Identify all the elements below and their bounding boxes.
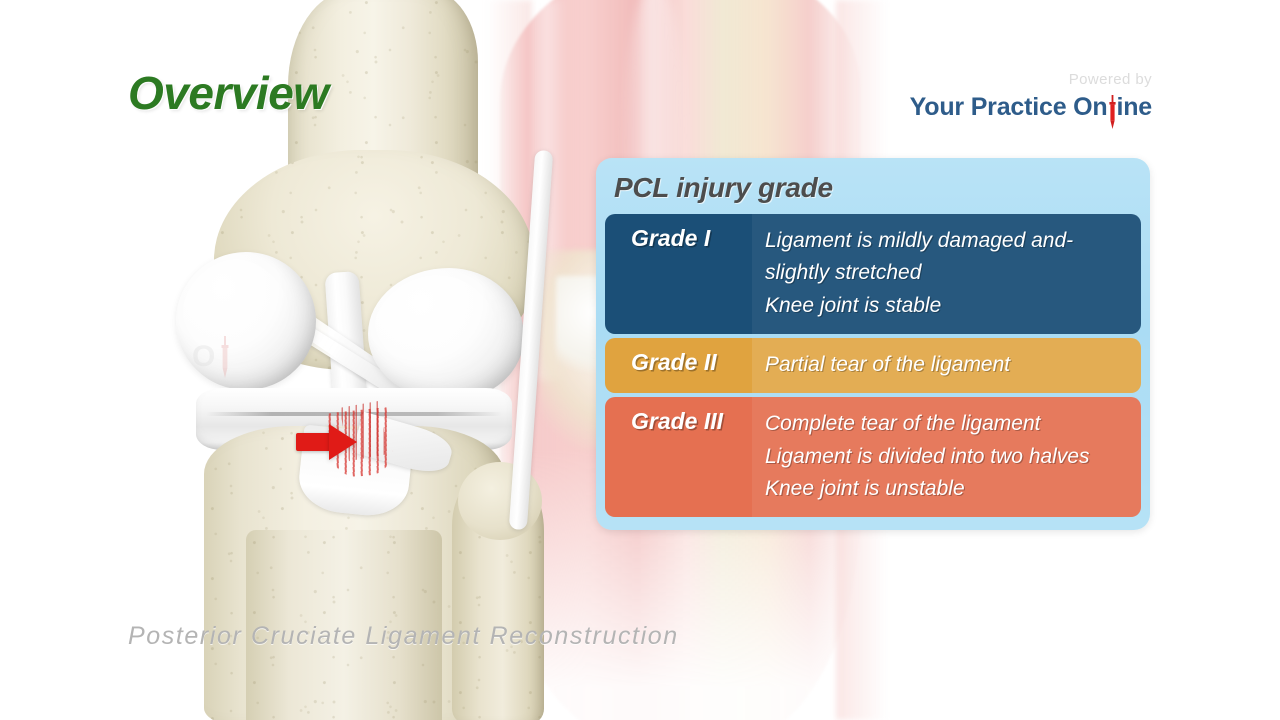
tibia	[204, 426, 504, 720]
grade-description: Ligament is mildly damaged and- slightly…	[752, 214, 1141, 334]
grade-label: Grade II	[605, 338, 752, 387]
card-title: PCL injury grade	[614, 172, 833, 204]
powered-by-label: Powered by	[910, 72, 1152, 87]
grade-description-line: slightly stretched	[765, 257, 1127, 289]
arrow-shaft-icon	[296, 433, 332, 451]
video-caption: Posterior Cruciate Ligament Reconstructi…	[128, 622, 679, 651]
injury-pointer-arrow	[296, 424, 362, 460]
brand-logo[interactable]: Powered by Your Practice Onine	[910, 72, 1152, 120]
muscle-highlight-secondary	[528, 0, 566, 380]
bone-texture	[214, 150, 534, 370]
bone-texture	[452, 470, 544, 720]
torn-ligament-fibers-detail	[340, 401, 389, 461]
cruciate-ligament-band	[288, 317, 422, 409]
medial-femoral-condyle	[176, 252, 316, 390]
muscle-shadow-left	[486, 0, 532, 720]
meniscus-tibial-plateau	[196, 388, 512, 450]
arrow-head-icon	[329, 424, 357, 460]
lateral-ligament	[352, 412, 456, 479]
grade-description: Complete tear of the ligament Ligament i…	[752, 397, 1141, 517]
brand-name-part2: ine	[1116, 93, 1152, 121]
patellar-tendon-band	[509, 150, 553, 530]
grade-label: Grade III	[605, 397, 752, 446]
grade-rows: Grade I Ligament is mildly damaged and- …	[605, 214, 1141, 517]
grade-description: Partial tear of the ligament	[752, 338, 1141, 393]
lateral-femoral-condyle	[368, 268, 524, 400]
grade-description-line: Ligament is divided into two halves	[765, 441, 1127, 473]
grade-row[interactable]: Grade III Complete tear of the ligament …	[605, 397, 1141, 517]
pcl-injury-grade-card: PCL injury grade Grade I Ligament is mil…	[596, 158, 1150, 530]
ligament-fan	[296, 424, 414, 519]
anterior-cruciate-ligament	[280, 302, 417, 404]
grade-description-line: Partial tear of the ligament	[765, 349, 1127, 381]
grade-row[interactable]: Grade II Partial tear of the ligament	[605, 338, 1141, 393]
fibula-head	[458, 462, 542, 540]
grade-description-line: Complete tear of the ligament	[765, 408, 1127, 440]
grade-description-line: Knee joint is unstable	[765, 473, 1127, 505]
watermark-logo: O	[192, 332, 278, 382]
torn-ligament-fibers	[327, 407, 396, 479]
brand-name: Your Practice Onine	[910, 95, 1152, 120]
grade-description-line: Ligament is mildly damaged and-	[765, 225, 1127, 257]
femur-condyle-mass	[214, 150, 534, 370]
grade-row[interactable]: Grade I Ligament is mildly damaged and- …	[605, 214, 1141, 334]
grade-label: Grade I	[605, 214, 752, 263]
grade-description-line: Knee joint is stable	[765, 290, 1127, 322]
bone-texture	[204, 426, 504, 720]
screen: O Overview Powered by Your Practice Onin…	[0, 0, 1280, 720]
posterior-cruciate-ligament	[324, 271, 369, 433]
joint-space-line	[206, 412, 502, 416]
syringe-icon	[218, 336, 232, 378]
fibula	[452, 470, 544, 720]
brand-name-part1: Your Practice On	[910, 93, 1108, 121]
watermark-text: O	[192, 332, 278, 382]
page-title: Overview	[128, 66, 329, 120]
